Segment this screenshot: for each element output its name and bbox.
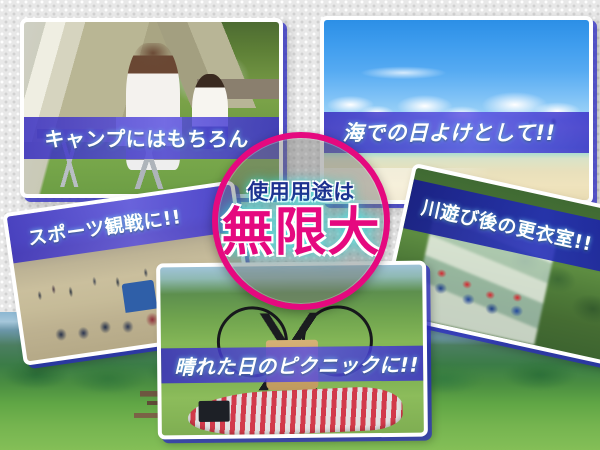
caption-text-beach: 海での日よけとして!!: [343, 117, 556, 147]
caption-banner-beach: 海での日よけとして!!: [324, 112, 589, 153]
badge-subtitle: 使用用途は: [247, 182, 355, 203]
usage-badge-circle: 使用用途は 無限大: [212, 132, 390, 310]
caption-banner-picnic: 晴れた日のピクニックに!!: [161, 345, 423, 383]
caption-text-picnic: 晴れた日のピクニックに!!: [174, 348, 419, 380]
caption-banner-camping: キャンプにはもちろん: [24, 117, 279, 159]
caption-text-sports: スポーツ観戦に!!: [26, 202, 183, 251]
caption-text-camping: キャンプにはもちろん: [44, 123, 248, 152]
badge-main-title: 無限大: [221, 207, 380, 260]
camera-shape: [198, 401, 230, 421]
poster-canvas: キャンプにはもちろん 海での日よけとして!! スポーツ観戦に!!: [0, 0, 600, 450]
